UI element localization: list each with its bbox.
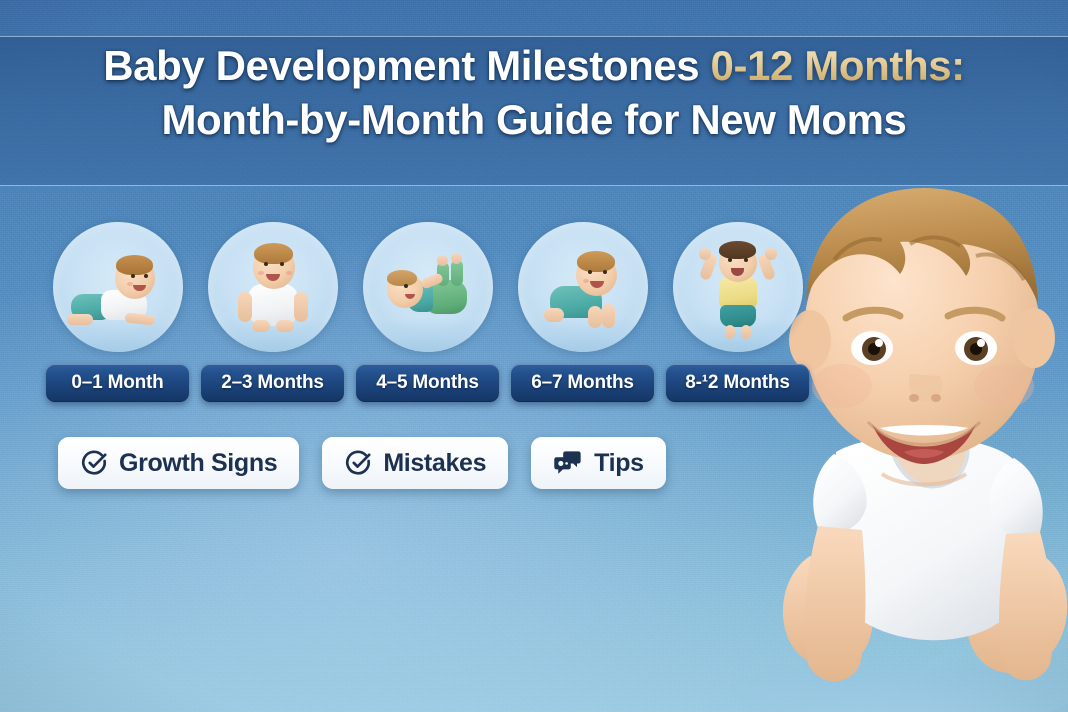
baby-standing-photo [673,222,803,352]
milestone-badge[interactable]: 2–3 Months [201,364,344,402]
milestone-item[interactable]: 6–7 Months [511,222,654,402]
tips-button[interactable]: Tips [531,437,666,489]
milestone-item[interactable]: 4–5 Months [356,222,499,402]
growth-signs-button[interactable]: Growth Signs [58,437,299,489]
growth-signs-label: Growth Signs [119,449,277,478]
milestone-badge[interactable]: 0–1 Month [46,364,189,402]
milestone-item[interactable]: 8-¹2 Months [666,222,809,402]
baby-rolling-photo [363,222,493,352]
title-line-2: Month-by-Month Guide for New Moms [0,98,1068,141]
baby-tummy-time-photo [53,222,183,352]
mistakes-button[interactable]: Mistakes [322,437,508,489]
mistakes-label: Mistakes [383,449,486,478]
chat-bubbles-icon [553,448,583,478]
poster-canvas: Baby Development Milestones 0-12 Months:… [0,0,1068,712]
milestone-item[interactable]: 0–1 Month [46,222,189,402]
title-main-text: Baby Development Milestones [103,42,699,89]
milestone-badge[interactable]: 4–5 Months [356,364,499,402]
page-title: Baby Development Milestones 0-12 Months:… [0,44,1068,142]
baby-crawling-photo [518,222,648,352]
milestone-badge[interactable]: 8-¹2 Months [666,364,809,402]
milestone-badge[interactable]: 6–7 Months [511,364,654,402]
title-accent-text: 0-12 Months: [711,42,965,89]
title-line-1: Baby Development Milestones 0-12 Months: [0,44,1068,87]
baby-sitting-photo [208,222,338,352]
milestone-strip: 0–1 Month [46,222,809,402]
tips-label: Tips [594,449,644,478]
milestone-item[interactable]: 2–3 Months [201,222,344,402]
check-circle-icon [80,449,108,477]
feature-button-row: Growth Signs Mistakes Tips [58,437,666,489]
check-circle-icon [344,449,372,477]
